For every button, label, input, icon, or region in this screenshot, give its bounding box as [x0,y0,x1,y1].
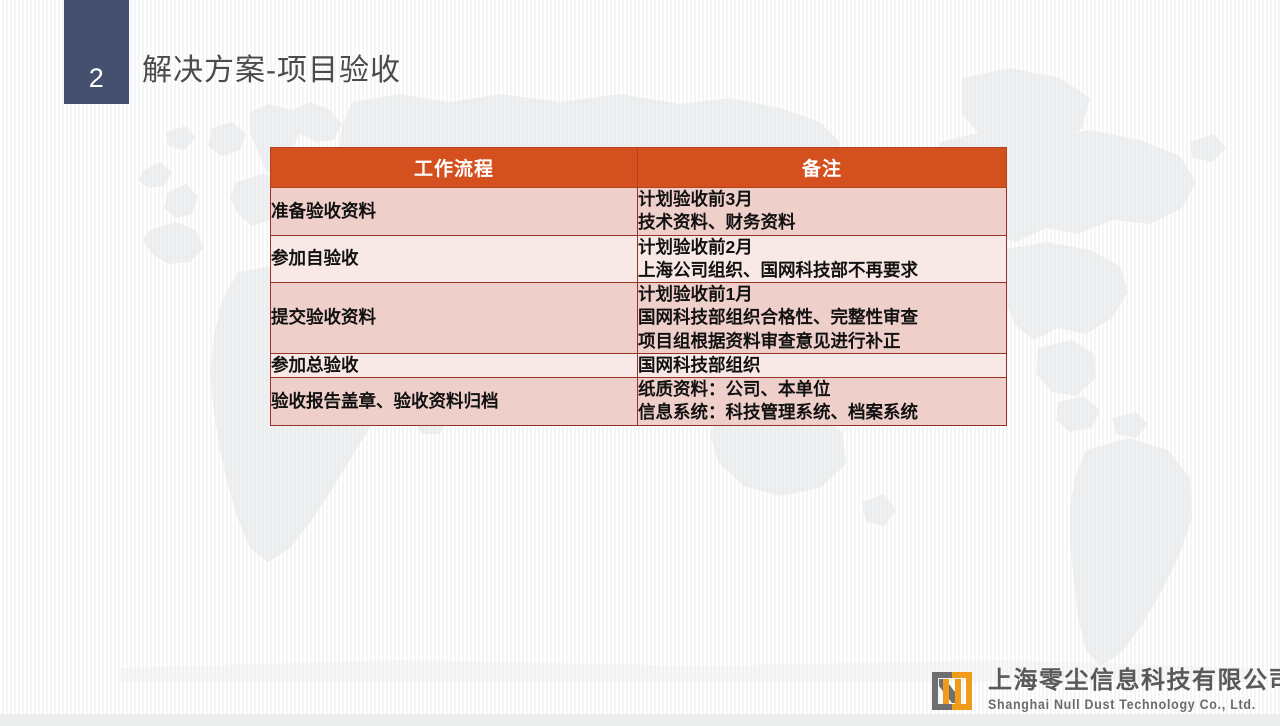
cell-process: 准备验收资料 [271,188,638,236]
cell-text-line: 计划验收前1月 [638,283,1006,306]
cell-text: 参加自验收 [271,247,637,270]
cell-remarks: 计划验收前3月 技术资料、财务资料 [638,188,1007,236]
cell-remarks: 国网科技部组织 [638,353,1007,377]
cell-text-line: 国网科技部组织合格性、完整性审查 [638,306,1006,329]
null-dust-logo-icon [930,670,974,712]
column-header-process: 工作流程 [271,148,638,188]
cell-text-line: 项目组根据资料审查意见进行补正 [638,330,1006,353]
cell-remarks: 计划验收前1月 国网科技部组织合格性、完整性审查 项目组根据资料审查意见进行补正 [638,283,1007,354]
cell-text: 提交验收资料 [271,306,637,329]
slide-canvas: 2 解决方案-项目验收 工作流程 备注 准备验收资料 计划验收前3月 技术资料、… [0,0,1280,726]
table-row: 参加总验收 国网科技部组织 [271,353,1007,377]
cell-process: 提交验收资料 [271,283,638,354]
cell-text: 准备验收资料 [271,200,637,223]
cell-text-line: 纸质资料：公司、本单位 [638,378,1006,401]
table-header: 工作流程 备注 [271,148,1007,188]
table-row: 参加自验收 计划验收前2月 上海公司组织、国网科技部不再要求 [271,235,1007,283]
cell-text-line: 上海公司组织、国网科技部不再要求 [638,259,1006,282]
cell-process: 参加总验收 [271,353,638,377]
cell-text-line: 信息系统：科技管理系统、档案系统 [638,401,1006,424]
cell-text: 参加总验收 [271,354,637,377]
cell-remarks: 计划验收前2月 上海公司组织、国网科技部不再要求 [638,235,1007,283]
cell-text: 验收报告盖章、验收资料归档 [271,390,637,413]
cell-text-line: 计划验收前2月 [638,236,1006,259]
table-row: 验收报告盖章、验收资料归档 纸质资料：公司、本单位 信息系统：科技管理系统、档案… [271,378,1007,426]
cell-process: 参加自验收 [271,235,638,283]
workflow-table: 工作流程 备注 准备验收资料 计划验收前3月 技术资料、财务资料 参加自验收 [270,147,1007,426]
cell-text-line: 计划验收前3月 [638,188,1006,211]
table-header-row: 工作流程 备注 [271,148,1007,188]
logo-company-name-en: Shanghai Null Dust Technology Co., Ltd. [988,698,1256,713]
slide-title-bar: 2 解决方案-项目验收 [0,0,1280,110]
table-row: 准备验收资料 计划验收前3月 技术资料、财务资料 [271,188,1007,236]
page-title: 解决方案-项目验收 [142,56,401,86]
table-row: 提交验收资料 计划验收前1月 国网科技部组织合格性、完整性审查 项目组根据资料审… [271,283,1007,354]
column-header-remarks: 备注 [638,148,1007,188]
cell-text-line: 国网科技部组织 [638,354,1006,377]
section-number-badge: 2 [64,0,129,104]
company-logo: 上海零尘信息科技有限公司 Shanghai Null Dust Technolo… [930,668,1274,718]
cell-text-line: 技术资料、财务资料 [638,211,1006,234]
section-number-label: 2 [64,65,129,92]
table-body: 准备验收资料 计划验收前3月 技术资料、财务资料 参加自验收 计划验收前2月 上… [271,188,1007,426]
cell-remarks: 纸质资料：公司、本单位 信息系统：科技管理系统、档案系统 [638,378,1007,426]
cell-process: 验收报告盖章、验收资料归档 [271,378,638,426]
logo-company-name-cn: 上海零尘信息科技有限公司 [988,668,1280,694]
